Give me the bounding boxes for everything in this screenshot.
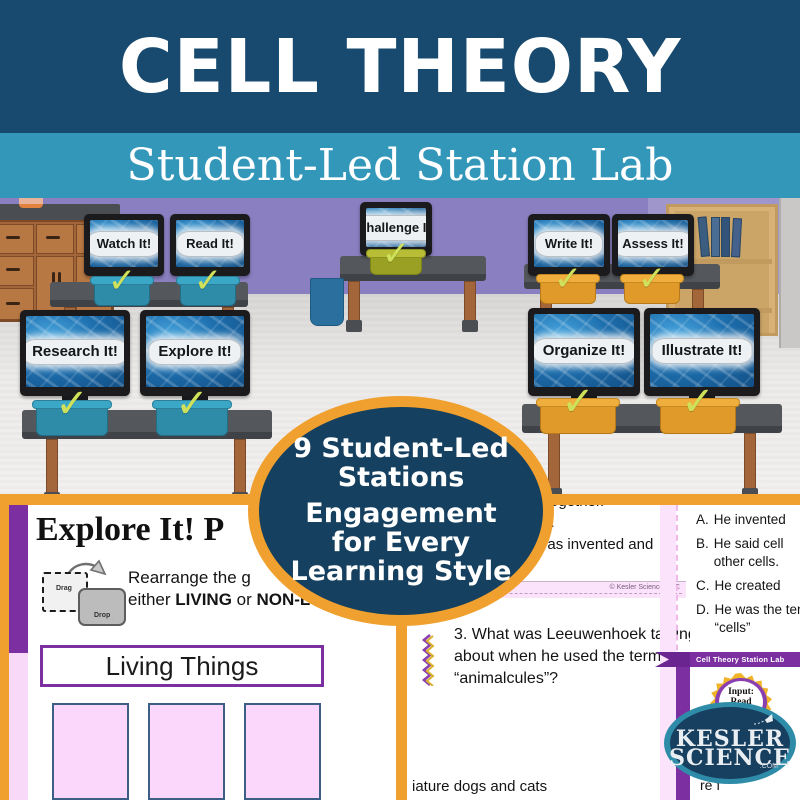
zigzag-seal-edge-icon (416, 634, 442, 686)
checkmark-icon: ✓ (561, 382, 595, 422)
checkmark-icon: ✓ (554, 262, 583, 296)
drag-drop-icon: Drag Drop (40, 560, 120, 624)
instr-line-1: Rearrange the g (128, 568, 251, 587)
trash-can (310, 278, 344, 326)
preview-question-card: 3. What was Leeuwenhoek talking about wh… (406, 608, 702, 800)
choice-letter: C. (696, 577, 710, 595)
drag-label: Drag (56, 585, 72, 592)
card-slot[interactable] (52, 703, 129, 800)
monitor-label: Explore It! (158, 343, 231, 360)
supply-bin-teal-4: ✓ (156, 404, 228, 436)
badge-line-1: 9 Student-Led Stations (281, 435, 521, 492)
checkmark-icon: ✓ (681, 382, 715, 422)
badge-line-2: Engagement for Every Learning Style (281, 499, 521, 586)
question-number: 3. (454, 626, 467, 643)
orange-divider-vertical-left (0, 494, 9, 800)
banner-label: Cell Theory Station Lab (696, 655, 784, 664)
checkmark-icon: ✓ (175, 384, 209, 424)
checkmark-icon: ✓ (55, 384, 89, 424)
supply-bin-olive: ✓ (370, 253, 422, 275)
supply-bin-teal-3: ✓ (36, 404, 108, 436)
kesler-science-logo: KESLER SCIENCE .COM (664, 702, 796, 784)
monitor-label: Research It! (32, 343, 118, 360)
monitor-label: Challenge It! (366, 220, 426, 235)
feature-badge: 9 Student-Led Stations Engagement for Ev… (248, 396, 554, 626)
page-subtitle: Student-Led Station Lab (127, 144, 674, 188)
checkmark-icon: ✓ (108, 264, 137, 298)
worksheet-title: Explore It! P (36, 511, 224, 549)
title-band: CELL THEORY (0, 0, 800, 133)
choice-text: He said cell other cells. (714, 535, 800, 571)
choice-letter: A. (696, 511, 709, 529)
choice-list: A. He invented B. He said cell other cel… (696, 511, 800, 643)
subtitle-band: Student-Led Station Lab (0, 133, 800, 198)
choice-c: C. He created (696, 577, 800, 595)
page-title: CELL THEORY (119, 30, 682, 104)
checkmark-icon: ✓ (194, 264, 223, 298)
supply-bin-teal-2: ✓ (180, 280, 236, 306)
instr-pre: either (128, 590, 175, 609)
monitor-label: Illustrate It! (662, 342, 743, 359)
rocket-icon (752, 714, 774, 726)
monitor-label: Assess It! (622, 236, 683, 251)
supply-bin-orange-1: ✓ (540, 278, 596, 304)
worksheet-spine (8, 505, 28, 653)
monitor-label: Organize It! (543, 342, 626, 359)
supply-bin-orange-4: ✓ (660, 402, 736, 434)
category-header-living-things: Living Things (40, 645, 324, 687)
choice-letter: D. (696, 601, 710, 637)
choice-text: He was the term “cells” (715, 601, 800, 637)
worksheet-spine-lower (8, 653, 28, 800)
drop-label: Drop (94, 612, 110, 619)
choice-a: A. He invented (696, 511, 800, 529)
monitor-label: Watch It! (97, 236, 151, 251)
choice-d: D. He was the term “cells” (696, 601, 800, 637)
supply-bin-orange-2: ✓ (624, 278, 680, 304)
choice-text: He invented (714, 511, 786, 529)
card-banner: Cell Theory Station Lab (690, 652, 800, 667)
supply-bin-teal-1: ✓ (94, 280, 150, 306)
choice-letter: B. (696, 535, 709, 571)
logo-tld: .COM (760, 763, 778, 770)
potted-plant (16, 198, 46, 208)
monitor-label: Write It! (545, 236, 593, 251)
question-card-tail: iature dogs and cats (412, 778, 692, 795)
wall-edge (779, 198, 800, 348)
checkmark-icon: ✓ (638, 262, 667, 296)
badge-fill: 9 Student-Led Stations Engagement for Ev… (259, 407, 543, 615)
checkmark-icon: ✓ (382, 237, 411, 271)
category-label: Living Things (106, 651, 259, 682)
product-cover: CELL THEORY Student-Led Station Lab (0, 0, 800, 800)
monitor-label: Read It! (186, 236, 234, 251)
card-slot[interactable] (244, 703, 321, 800)
instr-bold-living: LIVING (175, 590, 232, 609)
card-slot[interactable] (148, 703, 225, 800)
choice-text: He created (715, 577, 781, 595)
choice-b: B. He said cell other cells. (696, 535, 800, 571)
preview-multiple-choice-card: A. He invented B. He said cell other cel… (690, 505, 800, 649)
seal-line-1: Input: (728, 687, 754, 697)
